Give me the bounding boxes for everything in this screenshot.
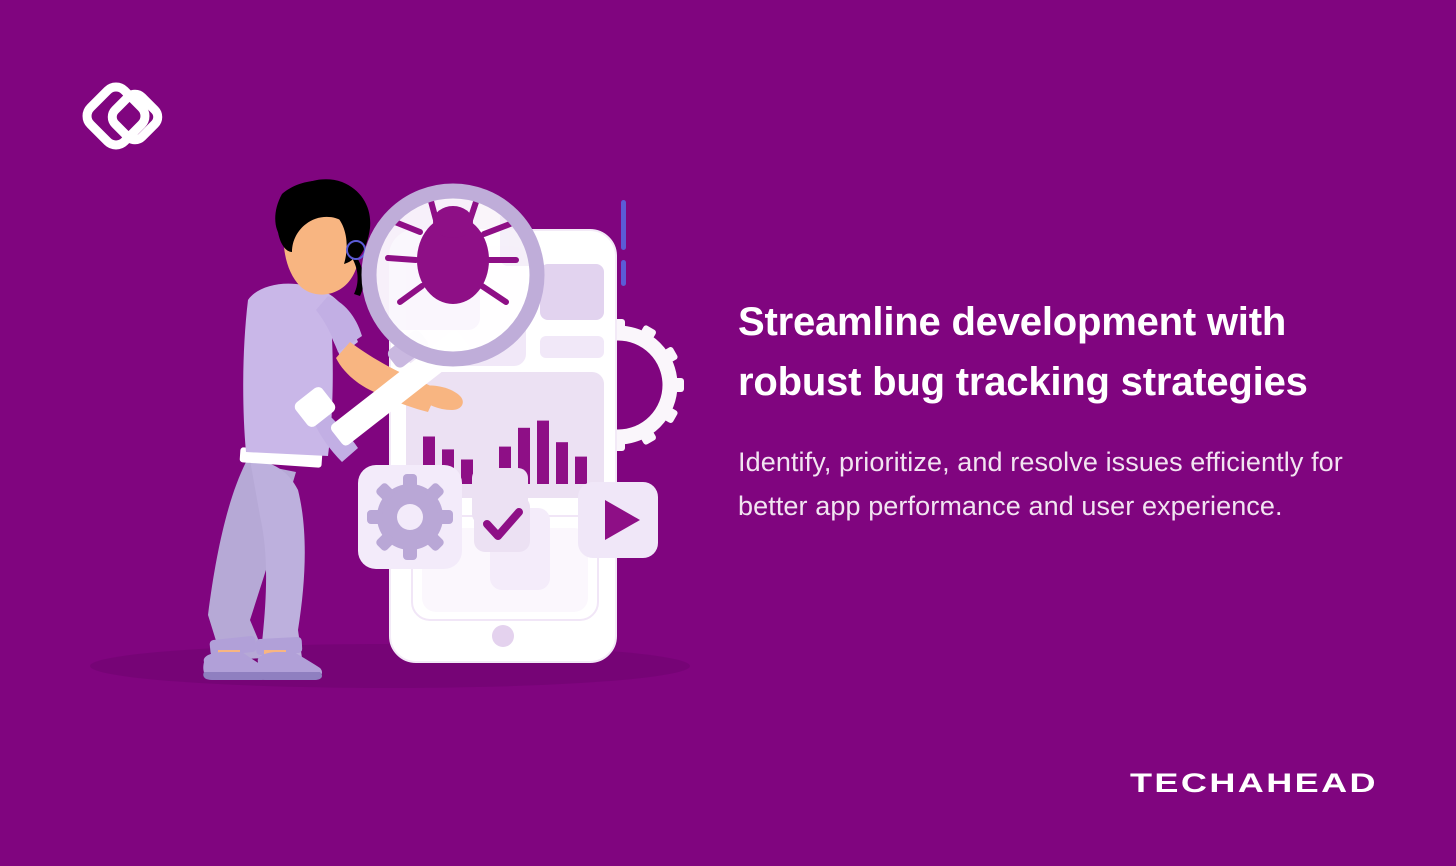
- gear-card: [358, 465, 462, 569]
- bug-head: [433, 206, 473, 238]
- side-buttons: [621, 200, 626, 286]
- phone-content-block-right: [540, 264, 604, 320]
- copy-block: Streamline development with robust bug t…: [738, 292, 1388, 528]
- home-button: [492, 625, 514, 647]
- chart-bar: [575, 457, 587, 484]
- chart-bar: [461, 460, 473, 485]
- wordmark-text: TECHAHEAD: [1130, 768, 1378, 798]
- banner-canvas: Streamline development with robust bug t…: [0, 0, 1456, 866]
- hero-illustration: [70, 160, 710, 700]
- gear-icon: [367, 474, 453, 560]
- techahead-logo-icon[interactable]: [80, 70, 172, 162]
- page-subtitle: Identify, prioritize, and resolve issues…: [738, 440, 1388, 528]
- shoe-front-sole: [257, 672, 322, 680]
- checkmark-card: [474, 496, 530, 552]
- phone-content-block-strip: [540, 336, 604, 358]
- chart-bar: [556, 442, 568, 484]
- page-title: Streamline development with robust bug t…: [738, 292, 1388, 412]
- techahead-wordmark[interactable]: TECHAHEAD: [1130, 768, 1378, 798]
- play-card: [578, 482, 658, 558]
- chart-bar: [537, 421, 549, 484]
